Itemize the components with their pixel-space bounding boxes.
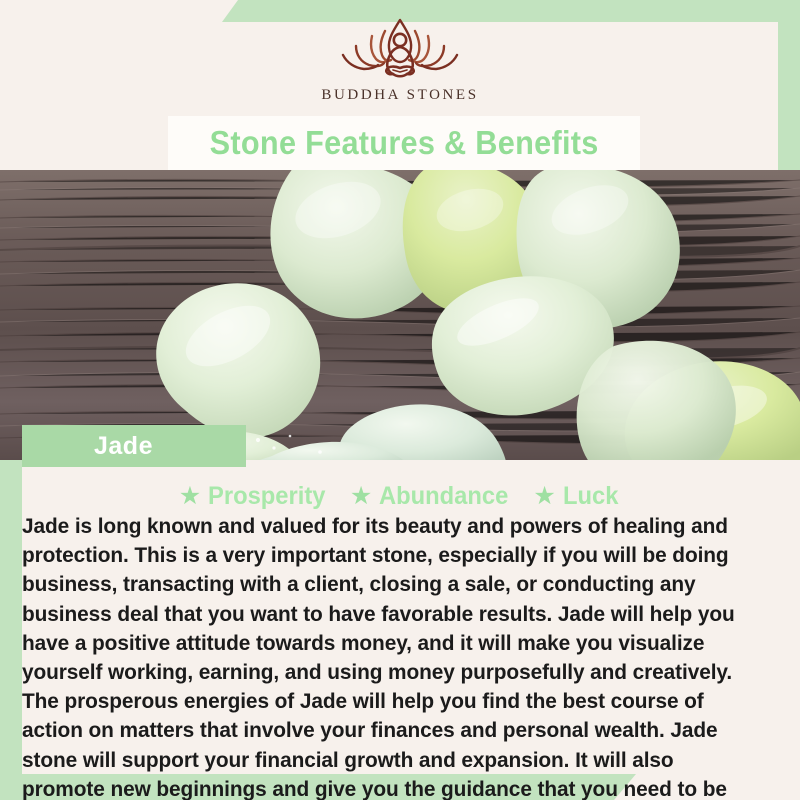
star-icon: ★ — [350, 484, 372, 509]
benefit-item: ★ Luck — [533, 482, 621, 511]
stone-name: Jade — [94, 432, 153, 461]
benefit-item: ★ Abundance — [350, 482, 516, 511]
stone-name-tag: Jade — [22, 425, 246, 467]
benefit-item: ★ Prosperity — [179, 482, 332, 511]
section-title-banner: Stone Features & Benefits — [168, 116, 640, 170]
benefits-row: ★ Prosperity ★ Abundance ★ Luck — [0, 480, 800, 512]
jade-stones-photo — [0, 170, 800, 460]
benefit-label: Prosperity — [208, 482, 325, 511]
page-title: Stone Features & Benefits — [209, 124, 598, 162]
star-icon: ★ — [533, 484, 555, 509]
benefit-label: Luck — [563, 482, 618, 511]
description-paragraph: Jade is long known and valued for its be… — [22, 512, 759, 800]
description-block: Jade is long known and valued for its be… — [22, 512, 782, 774]
brand-logo: BUDDHA STONES — [0, 0, 800, 118]
lotus-meditation-icon — [325, 15, 475, 83]
brand-wordmark: BUDDHA STONES — [321, 87, 478, 104]
star-icon: ★ — [179, 484, 201, 509]
benefit-label: Abundance — [379, 482, 508, 511]
infographic-page: BUDDHA STONES Stone Features & Benefits — [0, 0, 800, 800]
